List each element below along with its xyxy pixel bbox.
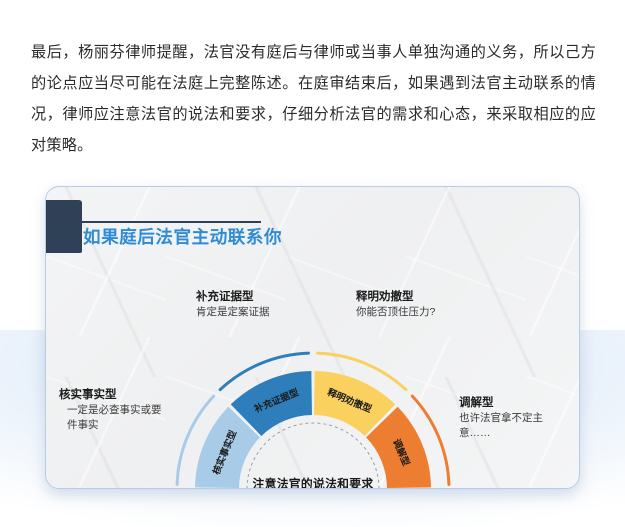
callout-clarify-withdraw-desc: 你能否顶住压力? [356, 305, 486, 320]
callout-core-fact-desc: 一定是必查事实或要件事实 [59, 403, 162, 433]
slide-card: 如果庭后法官主动联系你 核实事实型 一定是必查事实或要件事实 补充证据型 肯定是… [45, 186, 580, 489]
callout-core-fact: 核实事实型 一定是必查事实或要件事实 [59, 387, 169, 433]
callout-clarify-withdraw: 释明劝撤型 你能否顶住压力? [356, 289, 486, 320]
half-donut-chart: 核实事实型补充证据型释明劝撤型调解型 注意法官的说法和要求 [169, 345, 457, 489]
callout-supplement-evidence: 补充证据型 肯定是定案证据 [196, 289, 316, 320]
callout-supplement-evidence-title: 补充证据型 [196, 289, 316, 305]
callout-clarify-withdraw-title: 释明劝撤型 [356, 289, 486, 305]
callout-mediation: 调解型 也许法官拿不定主意…… [459, 395, 569, 441]
header-accent-block [46, 200, 82, 253]
page-title: 如果庭后法官主动联系你 [83, 224, 282, 249]
callout-mediation-title: 调解型 [459, 395, 569, 411]
article-paragraph: 最后，杨丽芬律师提醒，法官没有庭后与律师或当事人单独沟通的义务，所以己方的论点应… [31, 37, 596, 161]
header-rule [82, 221, 261, 223]
callout-mediation-desc: 也许法官拿不定主意…… [459, 411, 569, 441]
donut-svg: 核实事实型补充证据型释明劝撤型调解型 [169, 345, 457, 489]
donut-center-label: 注意法官的说法和要求 [253, 475, 374, 489]
callout-supplement-evidence-desc: 肯定是定案证据 [196, 305, 316, 320]
callout-core-fact-title: 核实事实型 [59, 387, 169, 403]
